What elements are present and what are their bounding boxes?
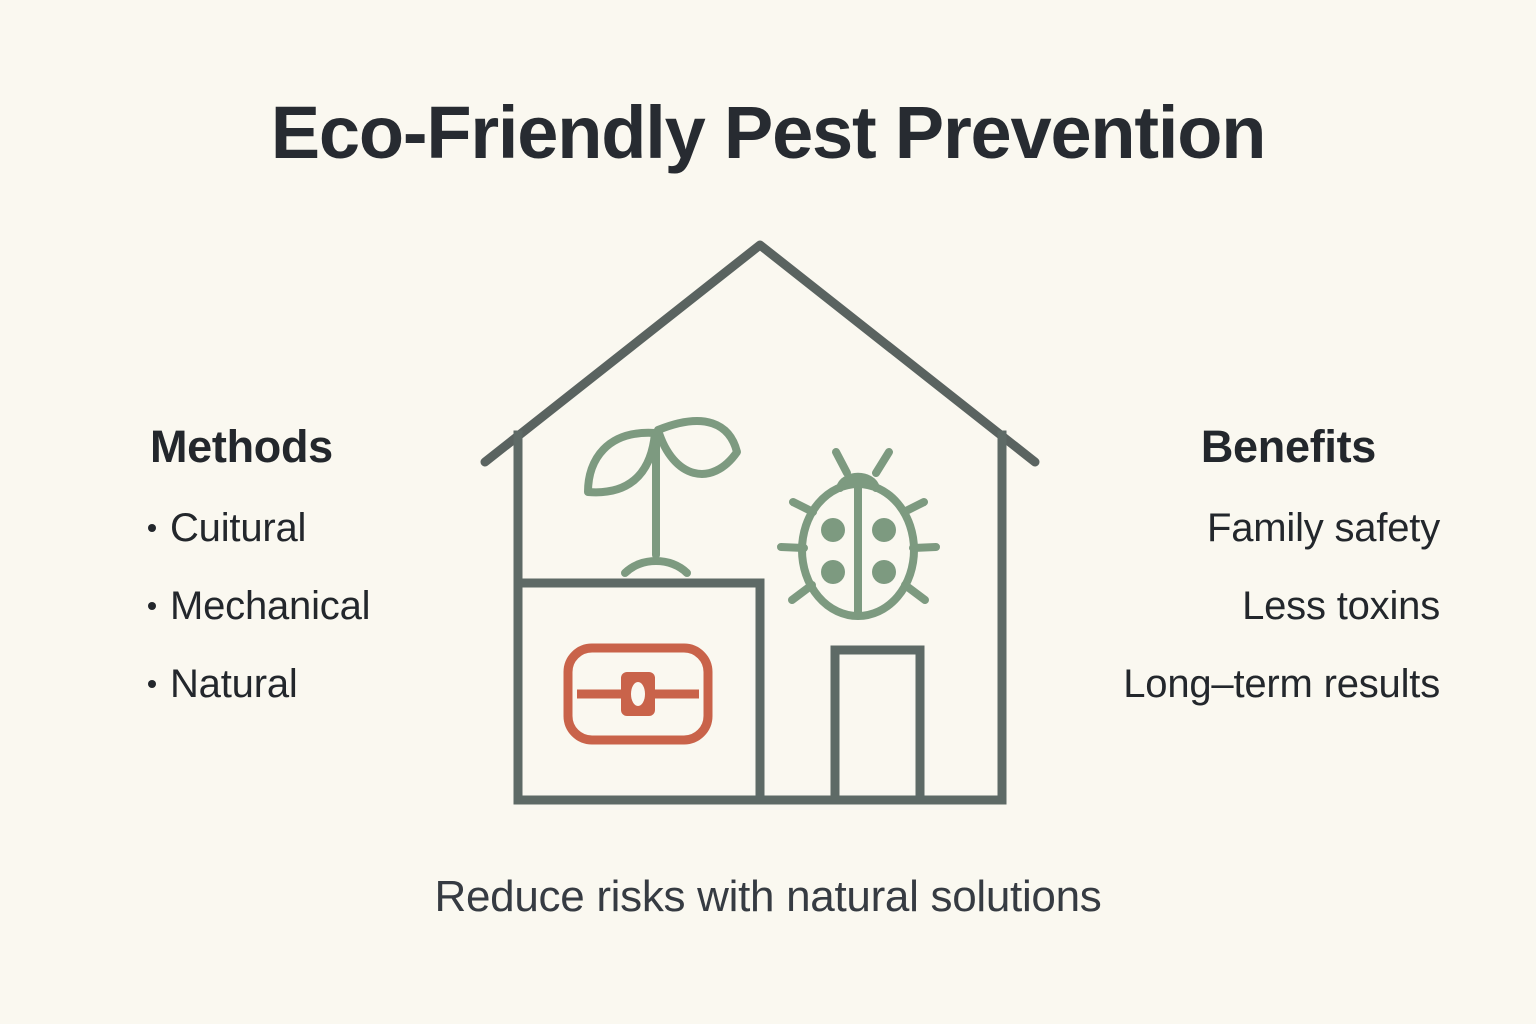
methods-list: Cuitural Mechanical Natural [148, 508, 478, 742]
door-icon [835, 650, 920, 800]
trap-hole [631, 682, 645, 706]
page-title: Eco-Friendly Pest Prevention [0, 96, 1536, 170]
methods-heading: Methods [150, 424, 333, 469]
methods-item-label: Cuitural [170, 506, 306, 550]
methods-item-label: Natural [170, 662, 298, 706]
bullet-icon [148, 602, 156, 610]
roof-icon [485, 245, 1035, 462]
list-item: Cuitural [148, 508, 478, 548]
methods-item-label: Mechanical [170, 584, 370, 628]
bullet-icon [148, 524, 156, 532]
pest-trap-icon [568, 648, 708, 740]
list-item: Natural [148, 664, 478, 704]
page-caption: Reduce risks with natural solutions [0, 872, 1536, 922]
infographic-canvas: Eco-Friendly Pest Prevention Methods Cui… [0, 0, 1536, 1024]
bullet-icon [148, 680, 156, 688]
ladybug-icon [781, 452, 936, 616]
list-item: Mechanical [148, 586, 478, 626]
house-illustration [455, 230, 1075, 830]
benefits-heading: Benefits [1201, 424, 1376, 469]
sprout-icon [588, 421, 737, 573]
